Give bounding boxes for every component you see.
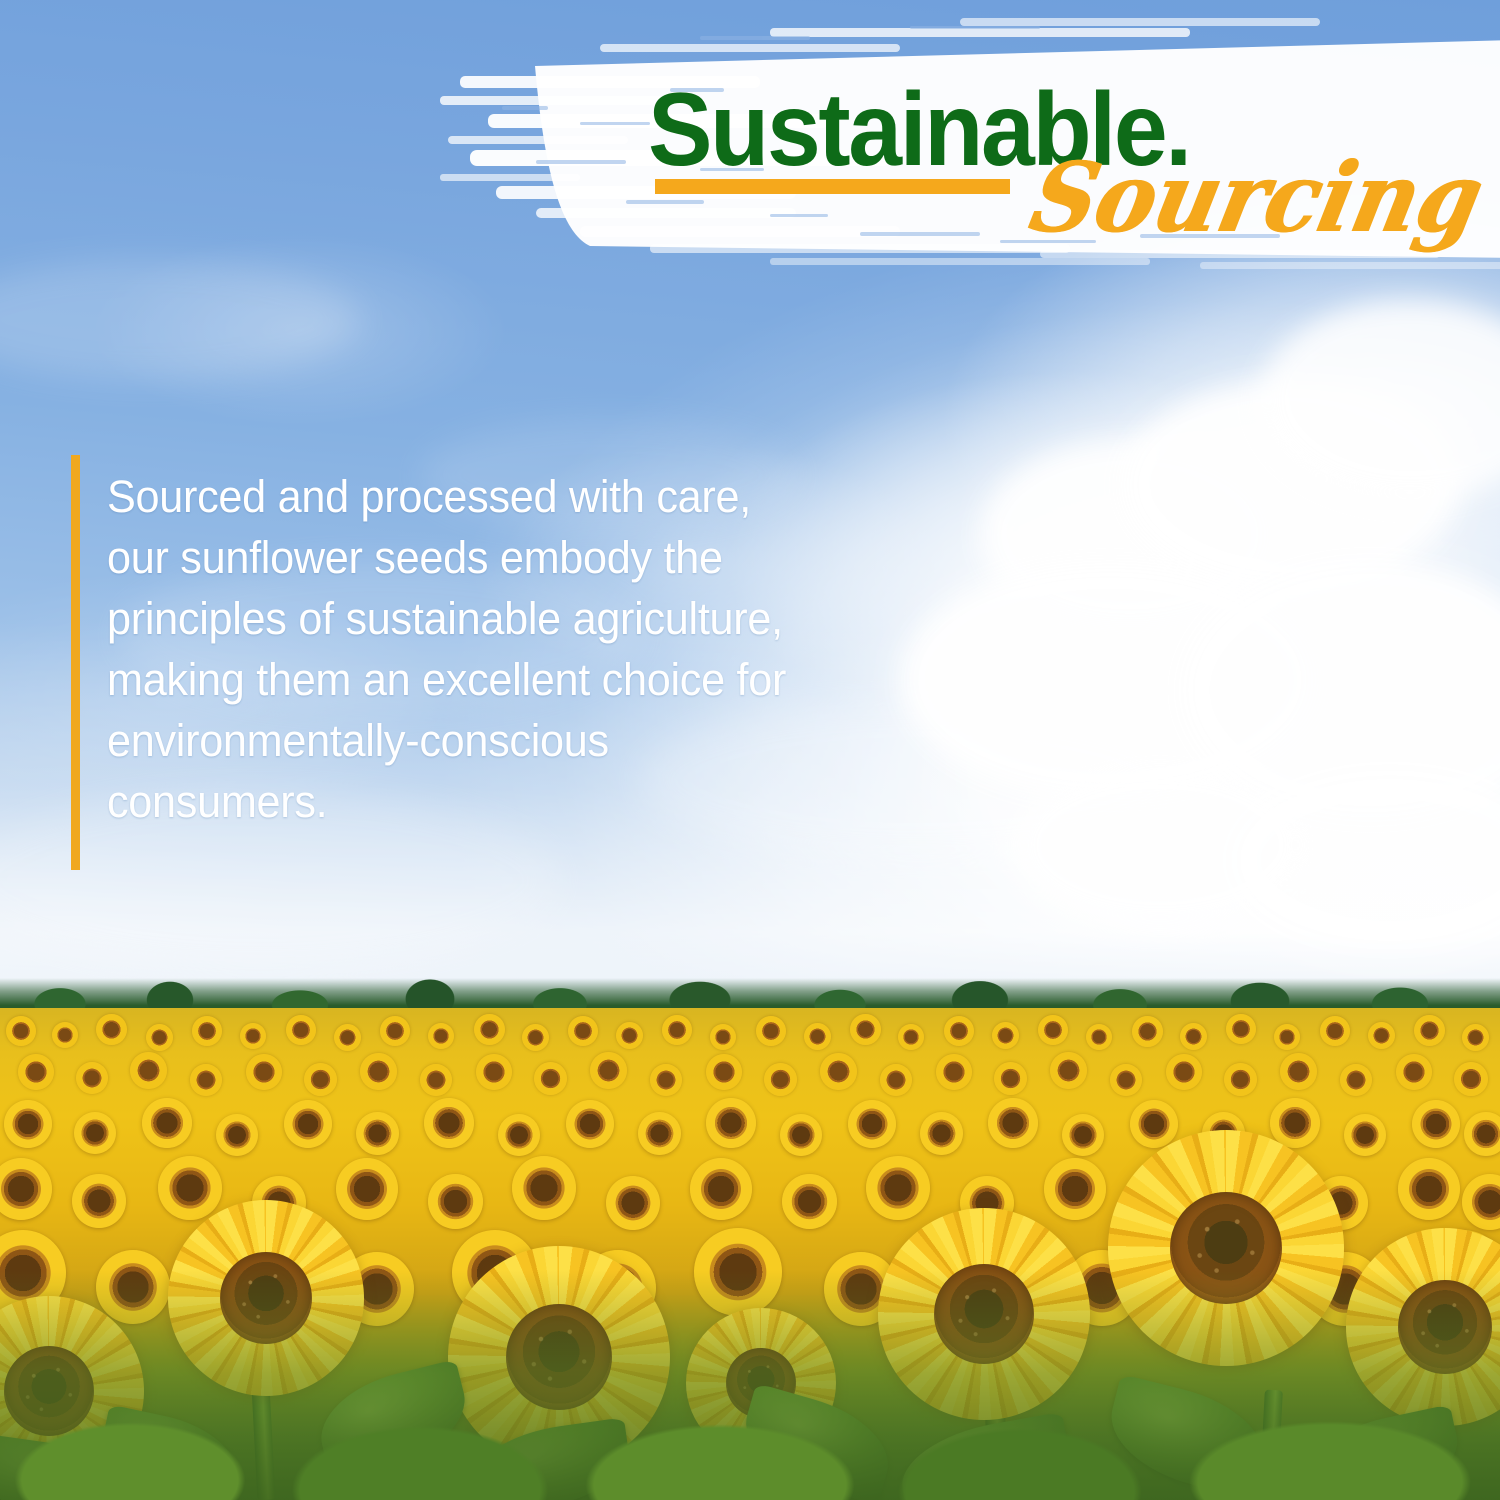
promo-banner: Sustainable. Sourcing Sourced and proces…: [0, 0, 1500, 1500]
body-accent-bar: [71, 455, 80, 870]
cloud-puff: [1010, 760, 1310, 930]
title-underline-bar: [655, 179, 1010, 194]
page-subtitle: Sourcing: [1024, 150, 1491, 246]
sunflower-field: [0, 978, 1500, 1500]
foliage-base: [0, 1270, 1500, 1500]
body-paragraph: Sourced and processed with care, our sun…: [107, 466, 808, 832]
